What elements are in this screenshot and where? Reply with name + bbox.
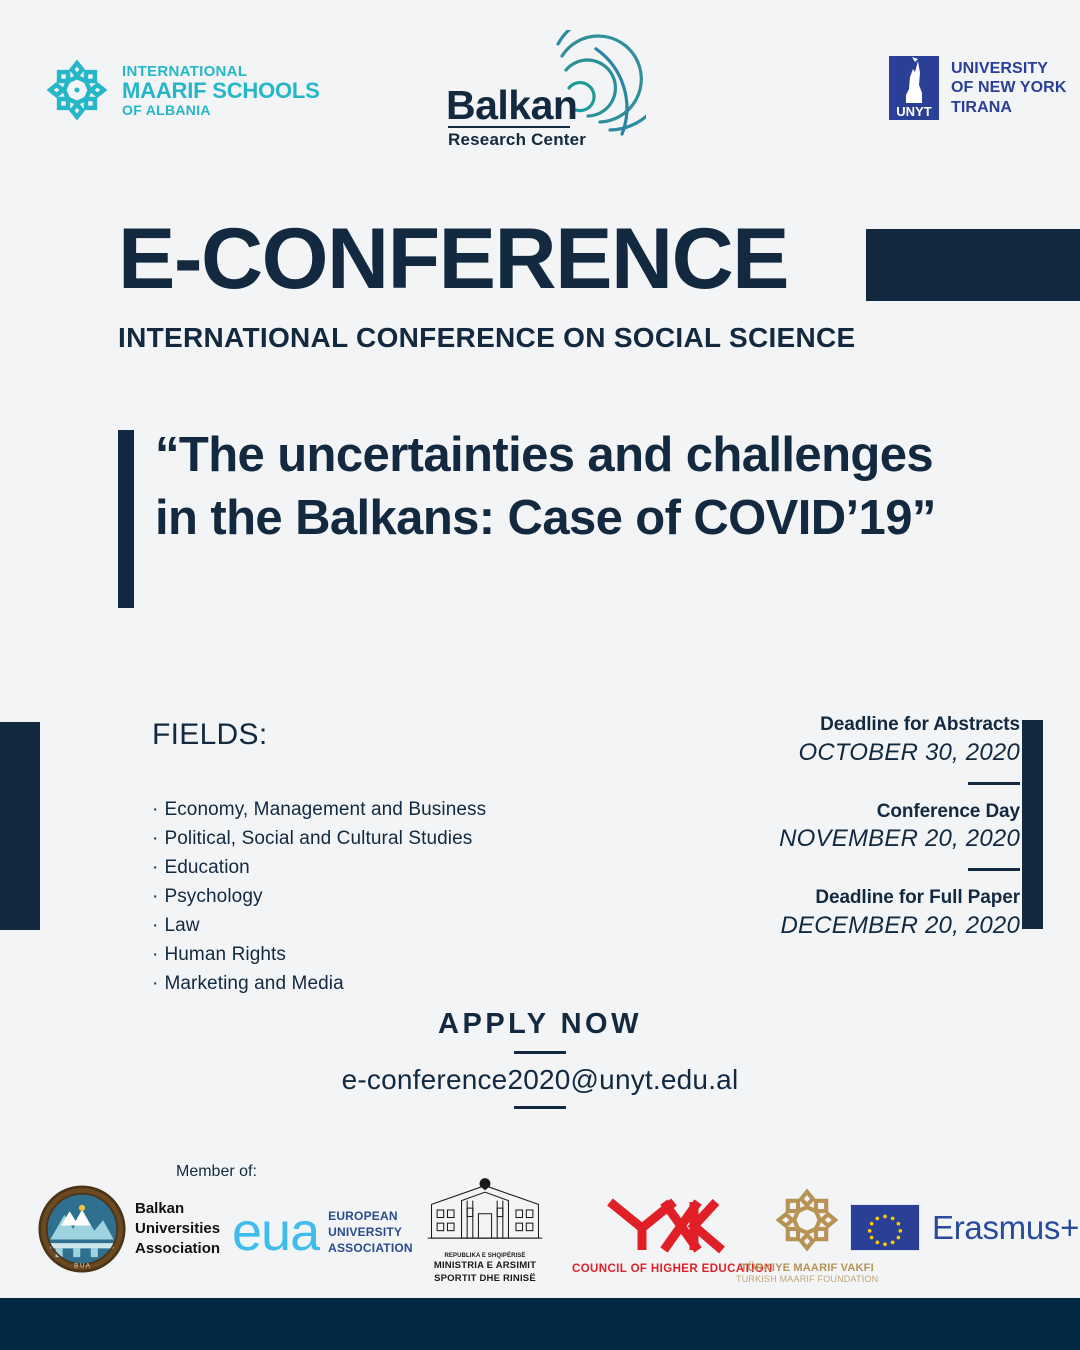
list-item: ·Law xyxy=(152,911,572,940)
date-entry-abstracts: Deadline for Abstracts OCTOBER 30, 2020 xyxy=(720,712,1020,768)
statue-of-liberty-icon: UNYT xyxy=(888,55,940,121)
logo-unyt: UNYT UNIVERSITY OF NEW YORK TIRANA xyxy=(888,55,1066,121)
date-value: OCTOBER 30, 2020 xyxy=(720,738,1020,768)
maarif-line-3: OF ALBANIA xyxy=(122,103,320,117)
bua-line-3: Association xyxy=(135,1239,220,1259)
apply-divider-top xyxy=(514,1051,566,1054)
title-accent-block xyxy=(866,229,1080,301)
bullet-icon: · xyxy=(152,828,158,849)
unyt-line-3: TIRANA xyxy=(951,98,1066,118)
ministry-line-2: SPORTIT DHE RINISË xyxy=(434,1273,536,1286)
list-item: ·Human Rights xyxy=(152,940,572,969)
eua-line-2: UNIVERSITY xyxy=(328,1224,413,1240)
bullet-icon: · xyxy=(152,886,158,907)
ministry-line-1: MINISTRIA E ARSIMIT xyxy=(434,1260,536,1273)
bullet-icon: · xyxy=(152,857,158,878)
apply-now-heading: APPLY NOW xyxy=(0,1008,1080,1041)
tmv-line-1: TÜRKIYE MAARIF VAKFI xyxy=(740,1262,873,1274)
date-divider xyxy=(968,782,1020,785)
logo-ministry-of-education: REPUBLIKA E SHQIPËRISË MINISTRIA E ARSIM… xyxy=(424,1176,546,1286)
list-item: ·Psychology xyxy=(152,882,572,911)
conference-theme: “The uncertainties and challenges in the… xyxy=(155,424,955,550)
erasmus-wordmark: Erasmus+ xyxy=(932,1209,1079,1247)
brc-title: Balkan xyxy=(446,82,577,129)
list-item: ·Marketing and Media xyxy=(152,969,572,998)
maarif-line-1: INTERNATIONAL xyxy=(122,64,320,79)
key-dates-section: Deadline for Abstracts OCTOBER 30, 2020 … xyxy=(720,712,1020,945)
unyt-wordmark: UNIVERSITY OF NEW YORK TIRANA xyxy=(951,59,1066,118)
tmv-star-icon xyxy=(775,1188,839,1257)
brc-subtitle: Research Center xyxy=(448,130,586,150)
date-label: Conference Day xyxy=(720,799,1020,825)
field-label: Psychology xyxy=(164,886,262,907)
field-label: Education xyxy=(164,857,249,878)
left-accent-block xyxy=(0,722,40,930)
logo-international-maarif-schools: INTERNATIONAL MAARIF SCHOOLS OF ALBANIA xyxy=(45,58,320,122)
fields-list: ·Economy, Management and Business ·Polit… xyxy=(152,795,572,998)
bua-wordmark: Balkan Universities Association xyxy=(135,1199,220,1258)
maarif-line-2: MAARIF SCHOOLS xyxy=(122,80,320,102)
ministry-wordmark: REPUBLIKA E SHQIPËRISË MINISTRIA E ARSIM… xyxy=(434,1252,536,1286)
logo-european-university-association: eua EUROPEAN UNIVERSITY ASSOCIATION xyxy=(232,1208,413,1257)
dates-accent-bar xyxy=(1022,720,1043,929)
bullet-icon: · xyxy=(152,944,158,965)
logo-erasmus-plus: Erasmus+ xyxy=(850,1204,1079,1251)
member-of-label: Member of: xyxy=(176,1163,257,1181)
eua-line-1: EUROPEAN xyxy=(328,1208,413,1224)
apply-divider-bottom xyxy=(514,1106,566,1109)
apply-email[interactable]: e-conference2020@unyt.edu.al xyxy=(0,1064,1080,1096)
conference-poster: INTERNATIONAL MAARIF SCHOOLS OF ALBANIA … xyxy=(0,0,1080,1350)
field-label: Law xyxy=(164,915,199,936)
list-item: ·Political, Social and Cultural Studies xyxy=(152,824,572,853)
field-label: Political, Social and Cultural Studies xyxy=(164,828,472,849)
footer-bar xyxy=(0,1298,1080,1350)
brc-divider xyxy=(448,126,570,128)
fields-heading: FIELDS: xyxy=(152,718,572,752)
date-entry-full-paper: Deadline for Full Paper DECEMBER 20, 202… xyxy=(720,885,1020,941)
date-entry-conference-day: Conference Day NOVEMBER 20, 2020 xyxy=(720,799,1020,855)
bua-seal-icon: B U A xyxy=(38,1185,126,1273)
svg-text:B U A: B U A xyxy=(74,1263,91,1270)
bullet-icon: · xyxy=(152,915,158,936)
field-label: Marketing and Media xyxy=(164,973,343,994)
bullet-icon: · xyxy=(152,799,158,820)
tmv-line-2: TURKISH MAARIF FOUNDATION xyxy=(736,1274,878,1284)
page-title: E-CONFERENCE xyxy=(118,216,788,302)
logo-balkan-universities-association: B U A Balkan Universities Association xyxy=(38,1185,220,1273)
bua-line-2: Universities xyxy=(135,1219,220,1239)
theme-accent-bar xyxy=(118,430,134,608)
maarif-star-icon xyxy=(45,58,109,122)
svg-text:UNYT: UNYT xyxy=(896,104,931,119)
yok-mark-icon xyxy=(602,1198,742,1259)
eu-flag-icon xyxy=(850,1204,920,1251)
unyt-line-1: UNIVERSITY xyxy=(951,59,1066,79)
date-value: NOVEMBER 20, 2020 xyxy=(720,824,1020,854)
eua-subtitle: EUROPEAN UNIVERSITY ASSOCIATION xyxy=(328,1208,413,1257)
list-item: ·Economy, Management and Business xyxy=(152,795,572,824)
header-logo-row: INTERNATIONAL MAARIF SCHOOLS OF ALBANIA … xyxy=(0,0,1080,172)
maarif-wordmark: INTERNATIONAL MAARIF SCHOOLS OF ALBANIA xyxy=(122,64,320,117)
apply-section: APPLY NOW e-conference2020@unyt.edu.al xyxy=(0,1008,1080,1119)
logo-balkan-research-center: Balkan Research Center xyxy=(446,32,646,152)
fields-section: FIELDS: ·Economy, Management and Busines… xyxy=(152,718,572,998)
list-item: ·Education xyxy=(152,853,572,882)
date-label: Deadline for Abstracts xyxy=(720,712,1020,738)
bua-line-1: Balkan xyxy=(135,1199,220,1219)
partner-logo-row: B U A Balkan Universities Association eu… xyxy=(0,1190,1080,1290)
eua-line-3: ASSOCIATION xyxy=(328,1240,413,1256)
date-divider xyxy=(968,868,1020,871)
ministry-tiny-line: REPUBLIKA E SHQIPËRISË xyxy=(434,1252,536,1260)
eua-wordmark: eua xyxy=(232,1211,319,1254)
date-value: DECEMBER 20, 2020 xyxy=(720,911,1020,941)
page-subtitle: INTERNATIONAL CONFERENCE ON SOCIAL SCIEN… xyxy=(118,322,856,354)
ministry-building-icon xyxy=(424,1176,546,1249)
date-label: Deadline for Full Paper xyxy=(720,885,1020,911)
field-label: Economy, Management and Business xyxy=(164,799,486,820)
field-label: Human Rights xyxy=(164,944,286,965)
bullet-icon: · xyxy=(152,973,158,994)
unyt-line-2: OF NEW YORK xyxy=(951,78,1066,98)
